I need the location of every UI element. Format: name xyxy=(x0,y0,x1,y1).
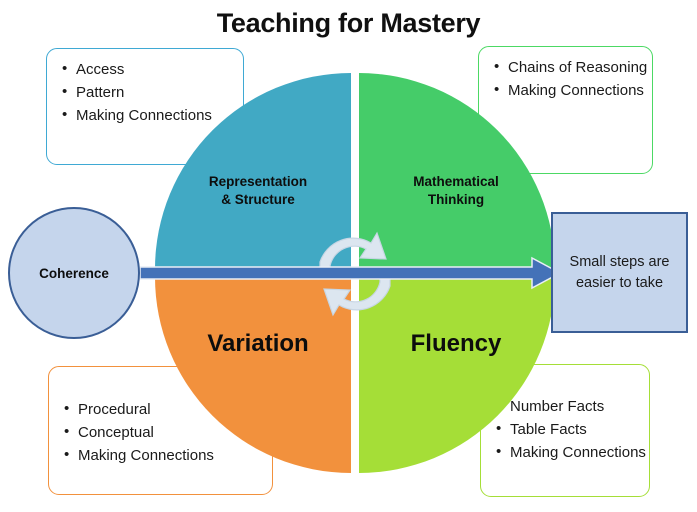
page-title: Teaching for Mastery xyxy=(0,8,697,39)
teaching-for-mastery-diagram: Teaching for Mastery Access Pattern Maki… xyxy=(0,0,697,512)
outcome-label: Small steps are easier to take xyxy=(553,252,686,293)
quadrant-label-fluency: Fluency xyxy=(363,328,549,360)
coherence-label: Coherence xyxy=(39,266,109,281)
right-arrow-icon xyxy=(140,256,560,290)
coherence-circle: Coherence xyxy=(8,207,140,339)
quadrant-label-variation: Variation xyxy=(165,328,351,360)
quadrant-label-mathematical-thinking: MathematicalThinking xyxy=(363,173,549,209)
quadrant-label-representation-structure: Representation& Structure xyxy=(165,173,351,209)
outcome-box: Small steps are easier to take xyxy=(551,212,688,333)
